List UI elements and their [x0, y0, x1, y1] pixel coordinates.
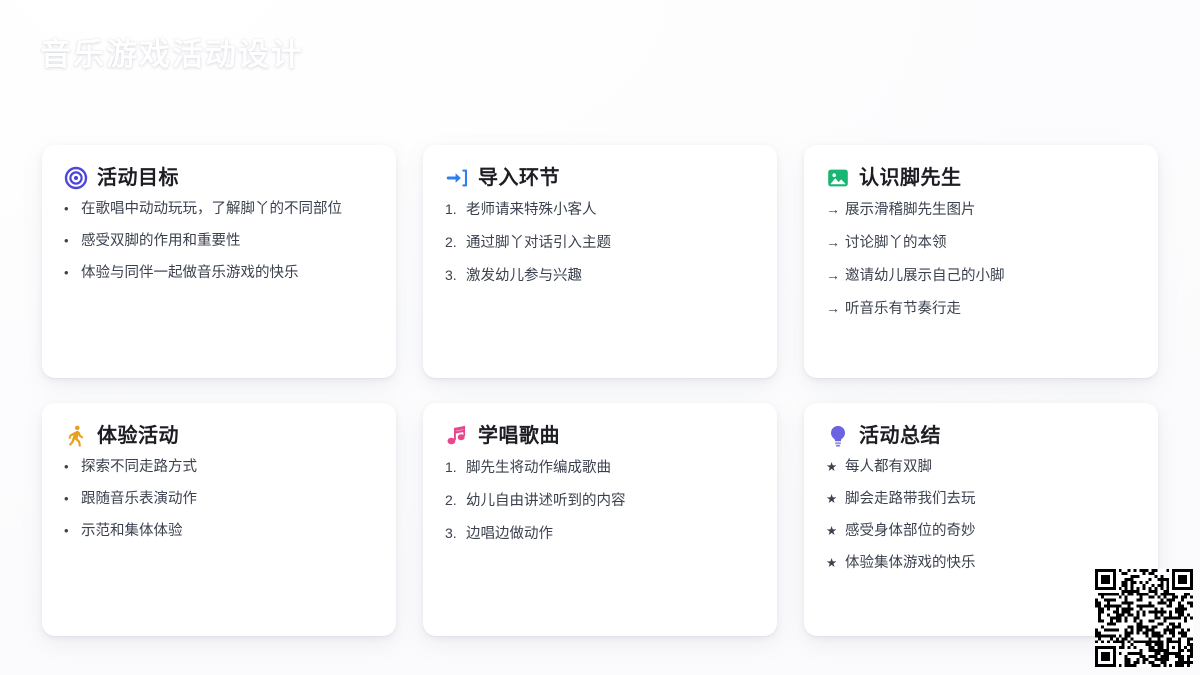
list-item-text: 在歌唱中动动玩玩，了解脚丫的不同部位 — [81, 199, 342, 220]
list-item: •跟随音乐表演动作 — [64, 489, 374, 510]
slide-canvas: 音乐游戏活动设计 活动目标•在歌唱中动动玩玩，了解脚丫的不同部位•感受双脚的作用… — [0, 0, 1200, 675]
list-marker: 1. — [445, 457, 466, 477]
list-marker: → — [826, 265, 845, 285]
list-marker: • — [64, 458, 81, 477]
page-title: 音乐游戏活动设计 — [40, 36, 304, 75]
list-item-text: 幼儿自由讲述听到的内容 — [466, 491, 626, 512]
list-item-text: 讨论脚丫的本领 — [845, 233, 947, 254]
card-header: 认识脚先生 — [826, 166, 1136, 190]
list-marker: → — [826, 298, 845, 318]
list-item: •探索不同走路方式 — [64, 457, 374, 478]
list-marker: 3. — [445, 523, 466, 543]
card-header: 活动总结 — [826, 424, 1136, 448]
list-item: ★脚会走路带我们去玩 — [826, 489, 1136, 510]
list-marker: • — [64, 264, 81, 283]
card-experience[interactable]: 体验活动•探索不同走路方式•跟随音乐表演动作•示范和集体体验 — [42, 403, 396, 636]
card-grid: 活动目标•在歌唱中动动玩玩，了解脚丫的不同部位•感受双脚的作用和重要性•体验与同… — [42, 145, 1158, 636]
card-title: 学唱歌曲 — [478, 424, 560, 448]
list-marker: ★ — [826, 522, 845, 540]
card-item-list: ★每人都有双脚★脚会走路带我们去玩★感受身体部位的奇妙★体验集体游戏的快乐 — [826, 457, 1136, 574]
list-item-text: 脚会走路带我们去玩 — [845, 489, 976, 510]
list-item: ★体验集体游戏的快乐 — [826, 553, 1136, 574]
list-marker: → — [826, 199, 845, 219]
sign-in-arrow-icon — [445, 166, 469, 190]
music-note-icon — [445, 424, 469, 448]
list-item-text: 听音乐有节奏行走 — [845, 299, 961, 320]
list-item: →讨论脚丫的本领 — [826, 232, 1136, 254]
card-header: 活动目标 — [64, 166, 374, 190]
card-title: 认识脚先生 — [859, 166, 962, 190]
card-item-list: •探索不同走路方式•跟随音乐表演动作•示范和集体体验 — [64, 457, 374, 542]
target-icon — [64, 166, 88, 190]
card-title: 活动总结 — [859, 424, 941, 448]
card-item-list: 1.老师请来特殊小客人2.通过脚丫对话引入主题3.激发幼儿参与兴趣 — [445, 199, 755, 287]
list-marker: 2. — [445, 490, 466, 510]
list-item-text: 老师请来特殊小客人 — [466, 200, 597, 221]
list-item: 3.激发幼儿参与兴趣 — [445, 265, 755, 287]
list-item-text: 体验集体游戏的快乐 — [845, 553, 976, 574]
list-item-text: 感受身体部位的奇妙 — [845, 521, 976, 542]
list-marker: ★ — [826, 458, 845, 476]
list-marker: → — [826, 232, 845, 252]
list-marker: ★ — [826, 490, 845, 508]
card-title: 导入环节 — [478, 166, 560, 190]
walking-person-icon — [64, 424, 88, 448]
list-item-text: 探索不同走路方式 — [81, 457, 197, 478]
card-objectives[interactable]: 活动目标•在歌唱中动动玩玩，了解脚丫的不同部位•感受双脚的作用和重要性•体验与同… — [42, 145, 396, 378]
list-item-text: 跟随音乐表演动作 — [81, 489, 197, 510]
list-item: 1.老师请来特殊小客人 — [445, 199, 755, 221]
list-item: •感受双脚的作用和重要性 — [64, 231, 374, 252]
list-marker: ★ — [826, 554, 845, 572]
list-marker: • — [64, 522, 81, 541]
list-item-text: 边唱边做动作 — [466, 524, 553, 545]
list-marker: 2. — [445, 232, 466, 252]
list-marker: • — [64, 490, 81, 509]
card-learn-song[interactable]: 学唱歌曲1.脚先生将动作编成歌曲2.幼儿自由讲述听到的内容3.边唱边做动作 — [423, 403, 777, 636]
card-header: 学唱歌曲 — [445, 424, 755, 448]
list-marker: • — [64, 200, 81, 219]
card-item-list: →展示滑稽脚先生图片→讨论脚丫的本领→邀请幼儿展示自己的小脚→听音乐有节奏行走 — [826, 199, 1136, 320]
card-title: 体验活动 — [97, 424, 179, 448]
lightbulb-icon — [826, 424, 850, 448]
list-item-text: 示范和集体体验 — [81, 521, 183, 542]
qr-code[interactable] — [1095, 569, 1193, 667]
card-header: 导入环节 — [445, 166, 755, 190]
list-item: 1.脚先生将动作编成歌曲 — [445, 457, 755, 479]
list-item: •示范和集体体验 — [64, 521, 374, 542]
list-item: ★每人都有双脚 — [826, 457, 1136, 478]
list-item: 2.通过脚丫对话引入主题 — [445, 232, 755, 254]
list-item: →听音乐有节奏行走 — [826, 298, 1136, 320]
list-item: •体验与同伴一起做音乐游戏的快乐 — [64, 263, 374, 284]
list-item-text: 体验与同伴一起做音乐游戏的快乐 — [81, 263, 299, 284]
image-icon — [826, 166, 850, 190]
list-item-text: 激发幼儿参与兴趣 — [466, 266, 582, 287]
list-marker: 1. — [445, 199, 466, 219]
list-item: →展示滑稽脚先生图片 — [826, 199, 1136, 221]
card-item-list: 1.脚先生将动作编成歌曲2.幼儿自由讲述听到的内容3.边唱边做动作 — [445, 457, 755, 545]
list-marker: • — [64, 232, 81, 251]
list-item-text: 通过脚丫对话引入主题 — [466, 233, 611, 254]
list-item-text: 脚先生将动作编成歌曲 — [466, 458, 611, 479]
card-introduction[interactable]: 导入环节1.老师请来特殊小客人2.通过脚丫对话引入主题3.激发幼儿参与兴趣 — [423, 145, 777, 378]
list-item-text: 感受双脚的作用和重要性 — [81, 231, 241, 252]
list-marker: 3. — [445, 265, 466, 285]
card-header: 体验活动 — [64, 424, 374, 448]
list-item: ★感受身体部位的奇妙 — [826, 521, 1136, 542]
card-item-list: •在歌唱中动动玩玩，了解脚丫的不同部位•感受双脚的作用和重要性•体验与同伴一起做… — [64, 199, 374, 284]
list-item-text: 展示滑稽脚先生图片 — [845, 200, 976, 221]
card-title: 活动目标 — [97, 166, 179, 190]
card-meet-mr-foot[interactable]: 认识脚先生→展示滑稽脚先生图片→讨论脚丫的本领→邀请幼儿展示自己的小脚→听音乐有… — [804, 145, 1158, 378]
list-item: →邀请幼儿展示自己的小脚 — [826, 265, 1136, 287]
list-item: 3.边唱边做动作 — [445, 523, 755, 545]
list-item-text: 邀请幼儿展示自己的小脚 — [845, 266, 1005, 287]
list-item: •在歌唱中动动玩玩，了解脚丫的不同部位 — [64, 199, 374, 220]
list-item-text: 每人都有双脚 — [845, 457, 932, 478]
list-item: 2.幼儿自由讲述听到的内容 — [445, 490, 755, 512]
